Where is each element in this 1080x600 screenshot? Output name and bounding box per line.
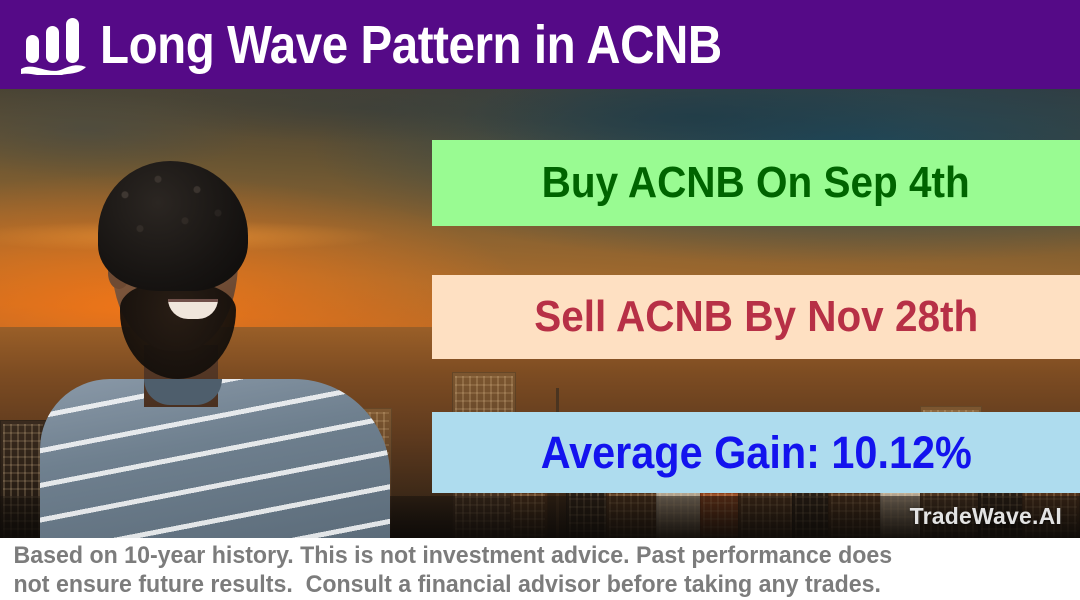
average-gain-text: Average Gain: 10.12% — [540, 430, 971, 476]
page-title: Long Wave Pattern in ACNB — [100, 17, 722, 73]
poster-root: Long Wave Pattern in ACNB — [0, 0, 1080, 600]
buy-signal-text: Buy ACNB On Sep 4th — [542, 160, 970, 206]
sell-signal-text: Sell ACNB By Nov 28th — [534, 294, 978, 340]
disclaimer-line-1: Based on 10-year history. This is not in… — [0, 541, 1042, 570]
disclaimer-line-2: not ensure future results. Consult a fin… — [0, 570, 1042, 599]
beard — [120, 283, 236, 379]
average-gain-banner: Average Gain: 10.12% — [432, 412, 1080, 493]
person-portrait — [36, 107, 396, 538]
bar-chart-wave-icon — [18, 15, 92, 75]
sell-signal-banner: Sell ACNB By Nov 28th — [432, 275, 1080, 359]
header-bar: Long Wave Pattern in ACNB — [0, 0, 1080, 89]
buy-signal-banner: Buy ACNB On Sep 4th — [432, 140, 1080, 226]
disclaimer-footer: Based on 10-year history. This is not in… — [0, 538, 1080, 600]
brand-watermark: TradeWave.AI — [910, 503, 1062, 530]
hair — [98, 161, 248, 291]
hair-texture — [98, 161, 248, 291]
